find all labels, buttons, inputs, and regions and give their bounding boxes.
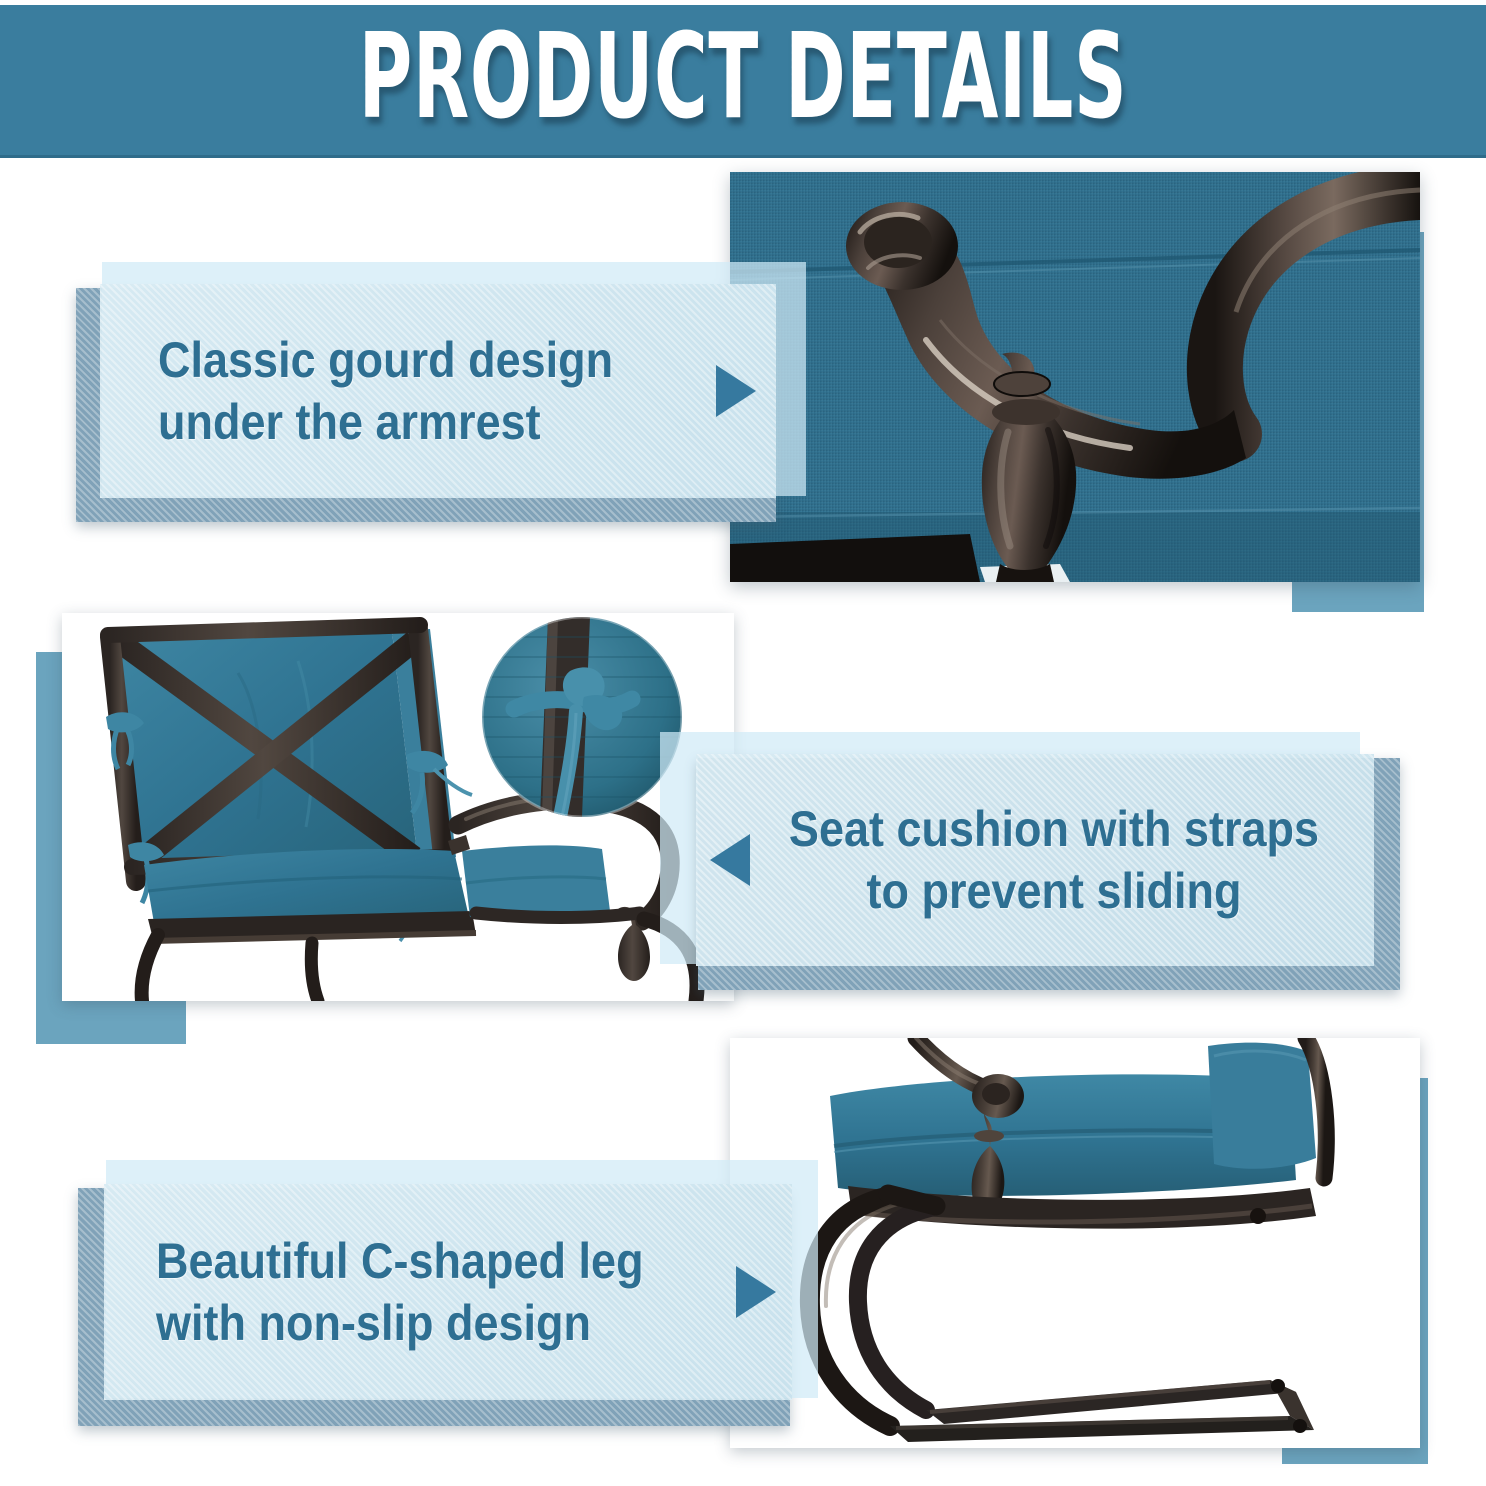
triangle-right-icon xyxy=(736,1266,776,1318)
callout-c-shaped-leg: Beautiful C-shaped leg with non-slip des… xyxy=(78,1160,818,1426)
callout-gourd-design: Classic gourd design under the armrest xyxy=(76,262,806,522)
product-details-infographic: PRODUCT DETAILS xyxy=(0,0,1486,1486)
c-leg-illustration xyxy=(730,1038,1420,1448)
callout-text-c-shaped-leg: Beautiful C-shaped leg with non-slip des… xyxy=(156,1230,678,1354)
callout-seat-straps: Seat cushion with straps to prevent slid… xyxy=(660,732,1400,990)
triangle-left-icon xyxy=(710,834,750,886)
chair-straps-photo xyxy=(62,613,734,1001)
callout-text-seat-straps: Seat cushion with straps to prevent slid… xyxy=(780,798,1327,922)
callout-body: Seat cushion with straps to prevent slid… xyxy=(696,754,1374,966)
callout-body: Beautiful C-shaped leg with non-slip des… xyxy=(104,1184,792,1400)
callout-body: Classic gourd design under the armrest xyxy=(100,284,776,498)
triangle-right-icon xyxy=(716,365,756,417)
page-title: PRODUCT DETAILS xyxy=(282,14,1203,138)
c-leg-photo xyxy=(730,1038,1420,1448)
armrest-illustration xyxy=(730,172,1420,582)
callout-text-gourd-design: Classic gourd design under the armrest xyxy=(158,329,660,453)
chair-straps-illustration xyxy=(62,613,734,1001)
armrest-photo xyxy=(730,172,1420,582)
